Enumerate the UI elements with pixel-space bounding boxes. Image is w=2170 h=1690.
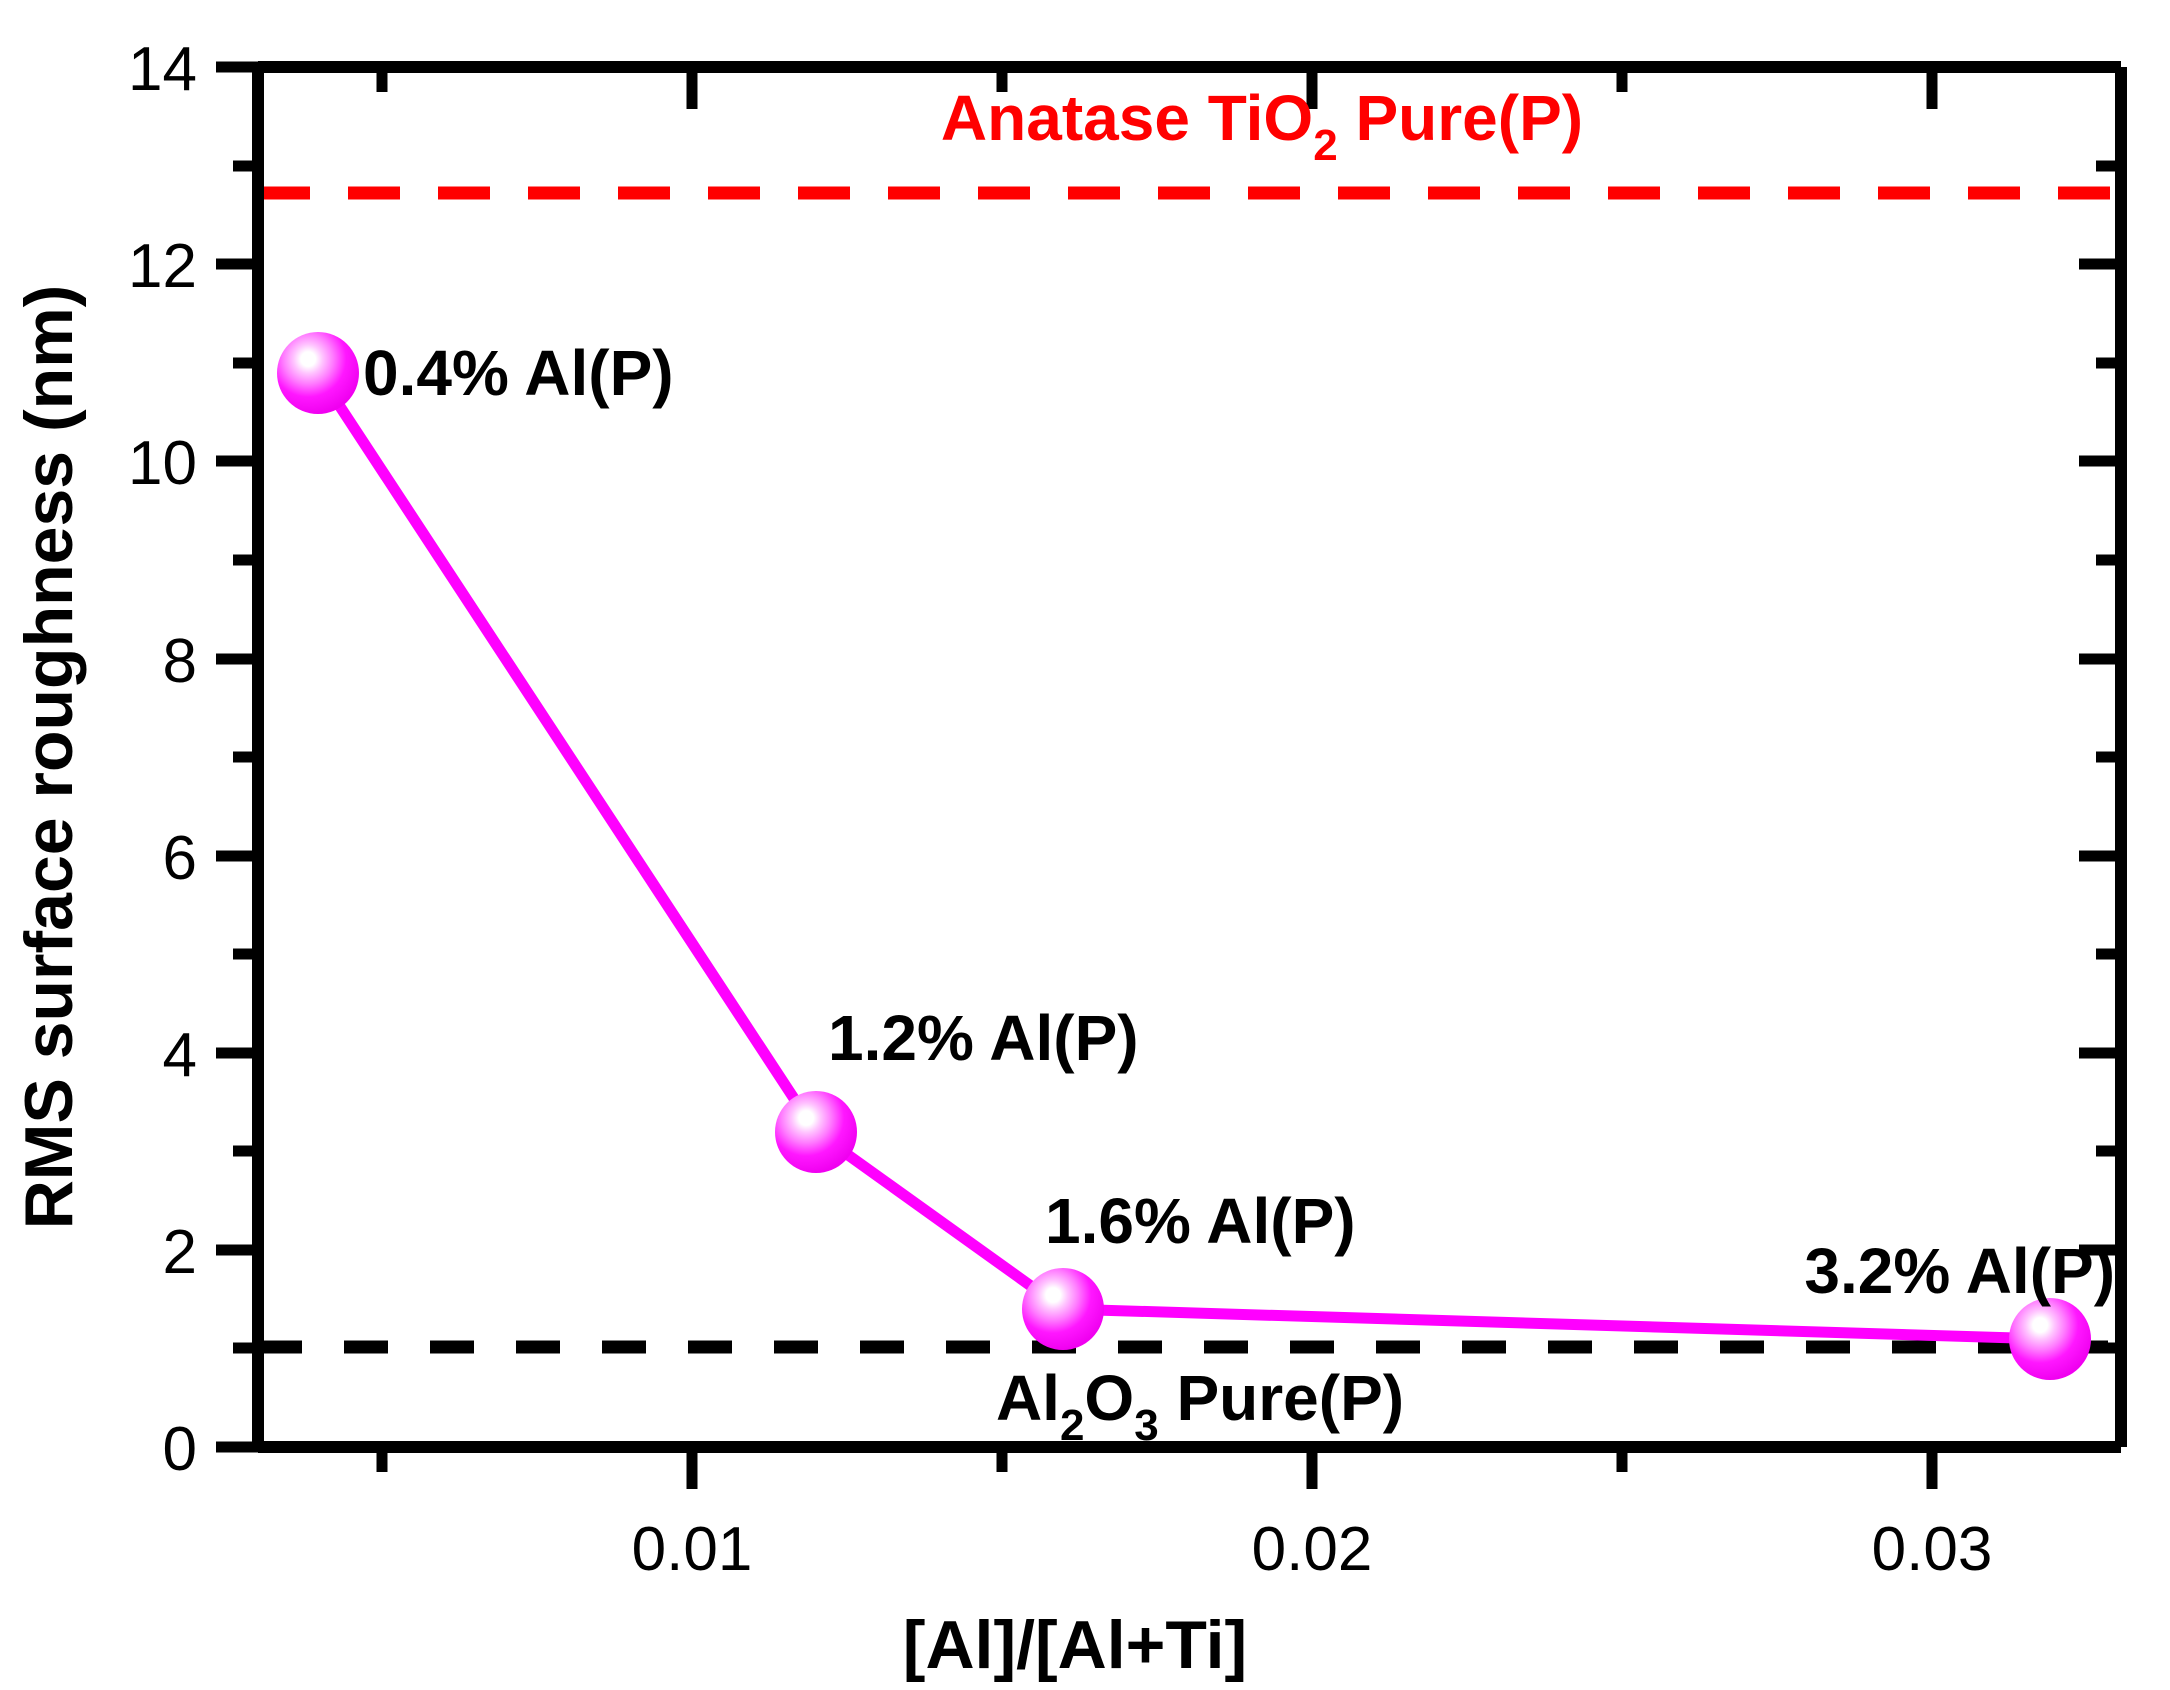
data-point-label-1-6: 1.6% Al(P) — [1045, 1185, 1356, 1257]
data-point-label-1-2: 1.2% Al(P) — [828, 1002, 1139, 1074]
data-point-label-0-4: 0.4% Al(P) — [363, 337, 674, 409]
al2o3-label-b: O — [1084, 1362, 1134, 1434]
rms-roughness-line-chart: 14 12 10 8 6 4 2 0 0.01 0.02 0.03 [Al]/[… — [0, 0, 2170, 1690]
x-major-ticks — [692, 1447, 1932, 1489]
anatase-label-pre: Anatase TiO — [941, 82, 1313, 154]
data-point-marker[interactable] — [1022, 1268, 1104, 1350]
y-tick-label: 6 — [163, 824, 197, 893]
data-point-marker[interactable] — [277, 332, 359, 414]
y-tick-label: 14 — [128, 35, 197, 104]
y-tick-label: 0 — [163, 1415, 197, 1484]
x-tick-label: 0.03 — [1872, 1515, 1993, 1584]
x-axis-title: [Al]/[Al+Ti] — [903, 1607, 1247, 1683]
anatase-label-subscript: 2 — [1313, 121, 1337, 170]
data-point-label-3-2: 3.2% Al(P) — [1804, 1235, 2115, 1307]
y-tick-label: 12 — [128, 232, 197, 301]
y-tick-label: 10 — [128, 429, 197, 498]
anatase-label-post: Pure(P) — [1338, 82, 1583, 154]
y-tick-label: 8 — [163, 627, 197, 696]
x-tick-label: 0.01 — [632, 1515, 753, 1584]
y-tick-label: 2 — [163, 1218, 197, 1287]
y-axis-title: RMS surface roughness (nm) — [11, 285, 87, 1230]
data-point-marker[interactable] — [2009, 1298, 2091, 1380]
al2o3-label-sub1: 2 — [1060, 1401, 1084, 1450]
chart-figure: 14 12 10 8 6 4 2 0 0.01 0.02 0.03 [Al]/[… — [0, 0, 2170, 1690]
al2o3-label-a: Al — [996, 1362, 1060, 1434]
al2o3-label-sub2: 3 — [1134, 1401, 1158, 1450]
al2o3-label-post: Pure(P) — [1159, 1362, 1404, 1434]
data-point-marker[interactable] — [775, 1091, 857, 1173]
x-tick-label: 0.02 — [1252, 1515, 1373, 1584]
y-tick-label: 4 — [163, 1021, 197, 1090]
